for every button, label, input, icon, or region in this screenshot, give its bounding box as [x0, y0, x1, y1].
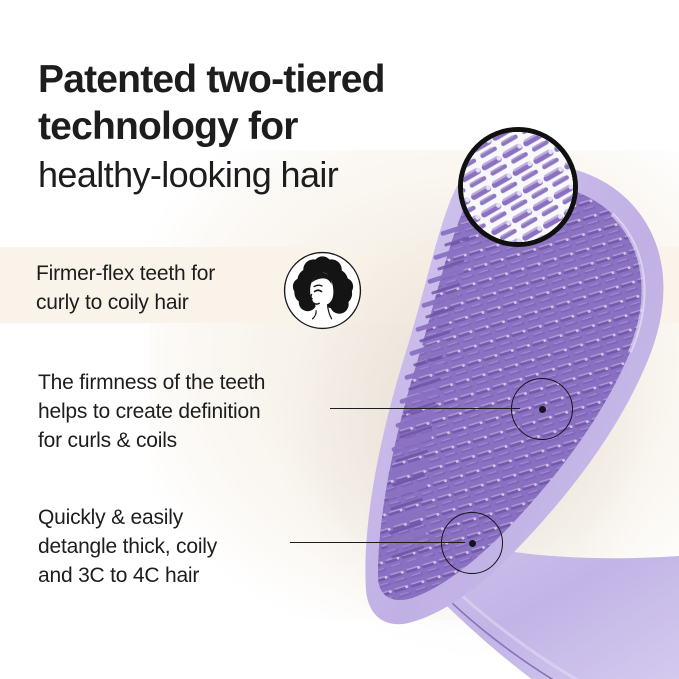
feature-line: The firmness of the teeth	[38, 368, 265, 397]
headline-line-3: healthy-looking hair	[38, 150, 468, 200]
callout-center-dot	[539, 406, 546, 413]
magnified-bristles-circle	[458, 127, 578, 247]
callout-dot-circle	[511, 378, 573, 440]
callout-dot-circle	[441, 512, 503, 574]
callout-center-dot	[469, 540, 476, 547]
feature-text-definition: The firmness of the teeth helps to creat…	[38, 368, 265, 455]
leader-line-detangle	[290, 542, 465, 543]
feature-text-firmer-flex: Firmer-flex teeth for curly to coily hai…	[36, 259, 215, 317]
page-title: Patented two-tiered technology for healt…	[38, 56, 468, 200]
curly-hair-woman-icon	[283, 251, 362, 330]
headline-line-2: technology for	[38, 103, 468, 150]
magnifier-content	[458, 127, 578, 247]
feature-line: and 3C to 4C hair	[38, 561, 217, 590]
feature-line: Quickly & easily	[38, 503, 217, 532]
headline-line-1: Patented two-tiered	[38, 56, 468, 103]
leader-line-definition	[330, 408, 520, 409]
feature-line: helps to create definition	[38, 397, 265, 426]
feature-line: Firmer-flex teeth for	[36, 259, 215, 288]
feature-text-detangle: Quickly & easily detangle thick, coily a…	[38, 503, 217, 590]
feature-line: for curls & coils	[38, 426, 265, 455]
feature-line: detangle thick, coily	[38, 532, 217, 561]
infographic-canvas: Patented two-tiered technology for healt…	[0, 0, 679, 679]
feature-line: curly to coily hair	[36, 288, 215, 317]
